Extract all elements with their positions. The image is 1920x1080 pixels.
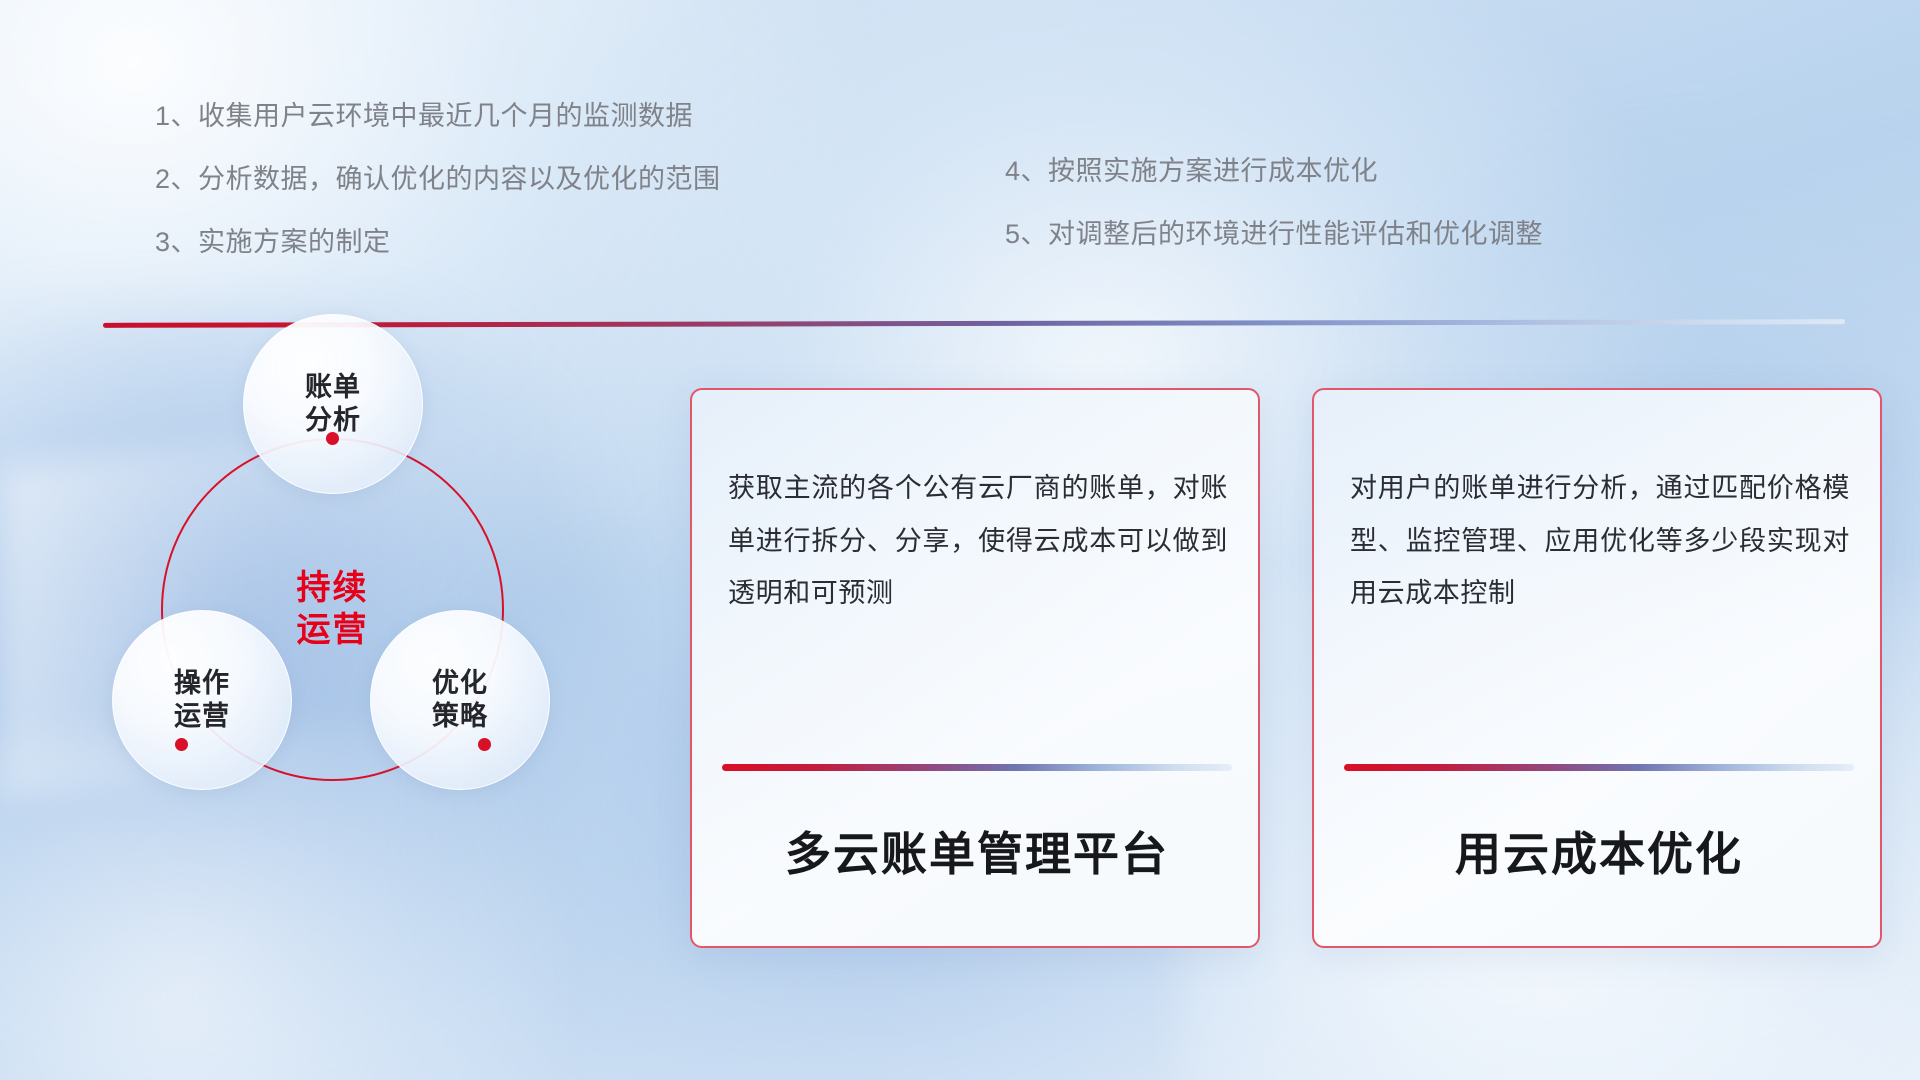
card-cloud-cost-optimization[interactable]: 对用户的账单进行分析，通过匹配价格模型、监控管理、应用优化等多少段实现对用云成本… — [1312, 388, 1882, 948]
diagram-circle-label: 优化 策略 — [432, 667, 488, 734]
list-item: 1、收集用户云环境中最近几个月的监测数据 — [155, 103, 721, 130]
card-title: 用云成本优化 — [1344, 818, 1854, 884]
continuous-operation-diagram: 账单 分析 操作 运营 优化 策略 持续 运营 — [100, 360, 600, 940]
diagram-node-dot-bottom-right — [478, 738, 491, 751]
card-multicloud-billing-platform[interactable]: 获取主流的各个公有云厂商的账单，对账单进行拆分、分享，使得云成本可以做到透明和可… — [690, 388, 1260, 948]
list-item: 4、按照实施方案进行成本优化 — [1005, 158, 1543, 185]
step-list-right: 4、按照实施方案进行成本优化 5、对调整后的环境进行性能评估和优化调整 — [1005, 158, 1543, 284]
diagram-node-dot-bottom-left — [175, 738, 188, 751]
diagram-circle-optimization-strategy[interactable]: 优化 策略 — [370, 610, 550, 790]
card-title: 多云账单管理平台 — [722, 818, 1232, 884]
card-body-text: 对用户的账单进行分析，通过匹配价格模型、监控管理、应用优化等多少段实现对用云成本… — [1350, 462, 1850, 620]
diagram-circle-label: 操作 运营 — [174, 667, 230, 734]
card-accent-rule — [722, 764, 1232, 771]
list-item: 3、实施方案的制定 — [155, 229, 721, 256]
card-body-text: 获取主流的各个公有云厂商的账单，对账单进行拆分、分享，使得云成本可以做到透明和可… — [728, 462, 1228, 620]
card-accent-rule — [1344, 764, 1854, 771]
diagram-circle-bill-analysis[interactable]: 账单 分析 — [243, 314, 423, 494]
list-item: 2、分析数据，确认优化的内容以及优化的范围 — [155, 166, 721, 193]
diagram-circle-label: 账单 分析 — [305, 371, 361, 438]
list-item: 5、对调整后的环境进行性能评估和优化调整 — [1005, 221, 1543, 248]
diagram-node-dot-top — [326, 432, 339, 445]
diagram-circle-operations[interactable]: 操作 运营 — [112, 610, 292, 790]
step-list-left: 1、收集用户云环境中最近几个月的监测数据 2、分析数据，确认优化的内容以及优化的… — [155, 103, 721, 292]
